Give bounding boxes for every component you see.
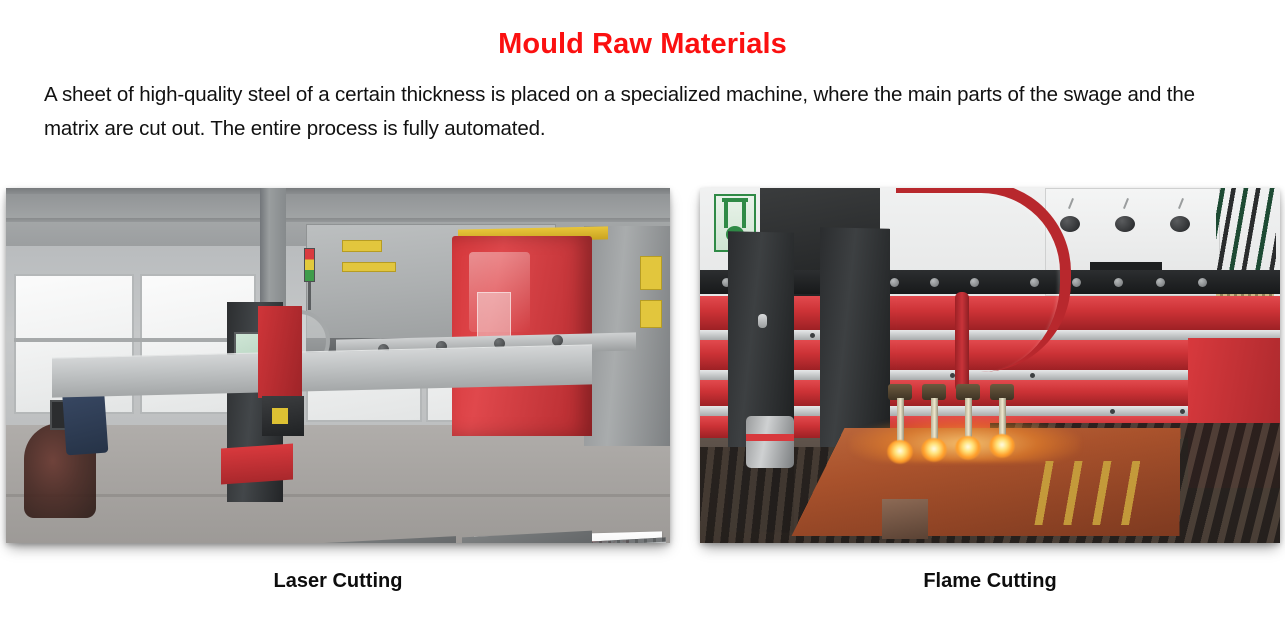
laser-head-housing bbox=[258, 306, 302, 398]
figure-flame-cutting[interactable] bbox=[700, 188, 1280, 543]
panel-knob[interactable] bbox=[1060, 216, 1080, 232]
rail-bolt bbox=[1110, 409, 1115, 414]
rail-bolt bbox=[1072, 278, 1081, 287]
machine-label bbox=[640, 256, 662, 290]
figure-caption-laser-cutting: Laser Cutting bbox=[6, 570, 670, 593]
page-description: A sheet of high-quality steel of a certa… bbox=[44, 78, 1204, 146]
gas-hose-drop bbox=[955, 292, 969, 392]
laser-cutting-photo: KOIKE LASERTEX Z bbox=[6, 188, 670, 543]
rail-bolt bbox=[1030, 373, 1035, 378]
window-mullion bbox=[14, 338, 256, 342]
floor-line bbox=[6, 494, 670, 497]
cutting-flame bbox=[887, 440, 913, 464]
machine-label bbox=[342, 262, 396, 272]
gas-hose bbox=[896, 188, 1071, 372]
rail-bolt bbox=[1180, 409, 1185, 414]
cylinder-band bbox=[746, 434, 794, 441]
laser-head-marker bbox=[272, 408, 288, 424]
ceiling-beam bbox=[6, 188, 670, 194]
sign-detail bbox=[724, 202, 728, 228]
panel-knob[interactable] bbox=[1115, 216, 1135, 232]
metal-offcut bbox=[882, 499, 928, 539]
rail-bolt bbox=[810, 333, 815, 338]
rail-bolt bbox=[1198, 278, 1207, 287]
shield-handle[interactable] bbox=[758, 314, 767, 328]
support-rods bbox=[1030, 461, 1150, 525]
stack-light-pole bbox=[308, 282, 311, 310]
flame-cutting-photo bbox=[700, 188, 1280, 543]
rail-bolt bbox=[1156, 278, 1165, 287]
machine-label bbox=[640, 300, 662, 328]
machine-label bbox=[342, 240, 382, 252]
slide-page: Mould Raw Materials A sheet of high-qual… bbox=[0, 0, 1285, 619]
figure-caption-flame-cutting: Flame Cutting bbox=[700, 570, 1280, 593]
ceiling-beam bbox=[6, 218, 670, 222]
cutting-flame bbox=[921, 438, 947, 462]
stack-light-icon bbox=[304, 248, 315, 282]
figure-laser-cutting[interactable]: KOIKE LASERTEX Z bbox=[6, 188, 670, 543]
sign-detail bbox=[722, 198, 748, 202]
cutting-flame bbox=[989, 434, 1015, 458]
page-title: Mould Raw Materials bbox=[0, 27, 1285, 61]
cutting-flame bbox=[955, 436, 981, 460]
sign-detail bbox=[742, 202, 746, 228]
gas-cylinder bbox=[746, 416, 794, 468]
figure-row: KOIKE LASERTEX Z bbox=[0, 188, 1285, 544]
panel-knob[interactable] bbox=[1170, 216, 1190, 232]
console-red-panel bbox=[221, 443, 293, 484]
rail-bolt bbox=[1114, 278, 1123, 287]
